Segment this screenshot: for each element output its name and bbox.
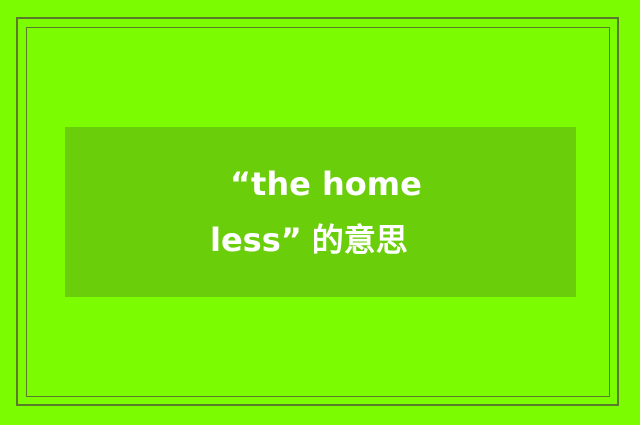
headline-line-1: “the home	[65, 156, 640, 212]
headline-line-2-cjk: 的意思	[302, 221, 408, 259]
headline-line-2-latin: less”	[210, 221, 302, 259]
headline-panel: “the home less”的意思	[65, 127, 576, 297]
headline-line-2: less”的意思	[65, 212, 640, 268]
image-card: “the home less”的意思	[0, 0, 640, 425]
